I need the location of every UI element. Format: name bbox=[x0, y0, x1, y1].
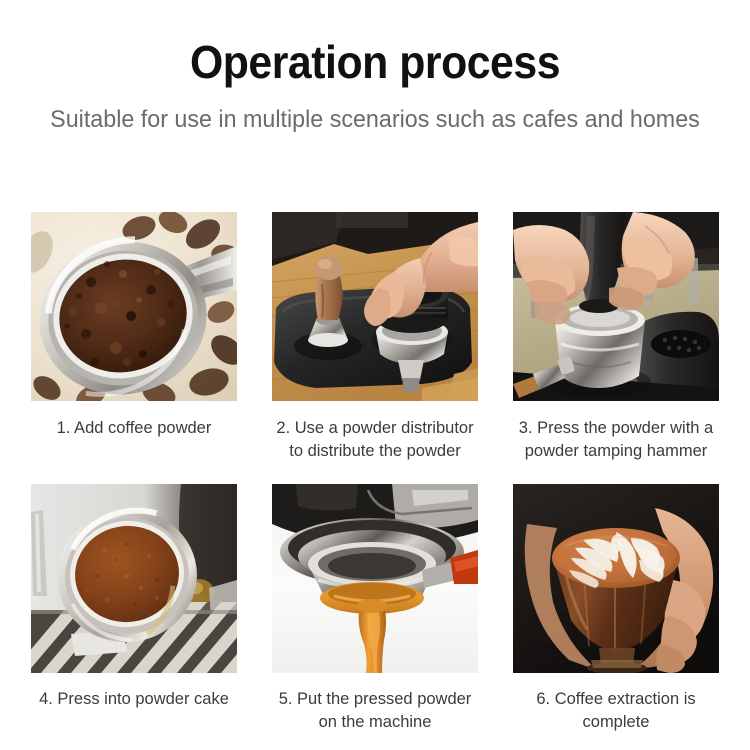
step-card-2: 2. Use a powder distributor to distribut… bbox=[272, 212, 478, 464]
page-title: Operation process bbox=[26, 38, 724, 86]
step-caption-6: 6. Coffee extraction is complete bbox=[513, 688, 719, 735]
tamping-hammer-photo bbox=[513, 212, 719, 401]
steps-grid: 1. Add coffee powder bbox=[31, 212, 719, 735]
step-caption-5: 5. Put the pressed powder on the machine bbox=[272, 688, 478, 735]
step-caption-1: 1. Add coffee powder bbox=[31, 417, 237, 463]
step-card-1: 1. Add coffee powder bbox=[31, 212, 237, 464]
tamped-coffee-puck-photo bbox=[31, 484, 237, 673]
step-card-5: 5. Put the pressed powder on the machine bbox=[272, 484, 478, 735]
operation-process-infographic: Operation process Suitable for use in mu… bbox=[0, 0, 750, 750]
step-card-4: 4. Press into powder cake bbox=[31, 484, 237, 735]
portafilter-with-ground-coffee-photo bbox=[31, 212, 237, 401]
step-card-3: 3. Press the powder with a powder tampin… bbox=[513, 212, 719, 464]
step-caption-4: 4. Press into powder cake bbox=[31, 688, 237, 734]
powder-distributor-photo bbox=[272, 212, 478, 401]
step-card-6: 6. Coffee extraction is complete bbox=[513, 484, 719, 735]
finished-latte-art-photo bbox=[513, 484, 719, 673]
infographic-header: Operation process Suitable for use in mu… bbox=[0, 0, 750, 136]
espresso-extraction-photo bbox=[272, 484, 478, 673]
step-caption-3: 3. Press the powder with a powder tampin… bbox=[513, 417, 719, 464]
step-caption-2: 2. Use a powder distributor to distribut… bbox=[272, 417, 478, 464]
page-subtitle: Suitable for use in multiple scenarios s… bbox=[11, 104, 739, 136]
